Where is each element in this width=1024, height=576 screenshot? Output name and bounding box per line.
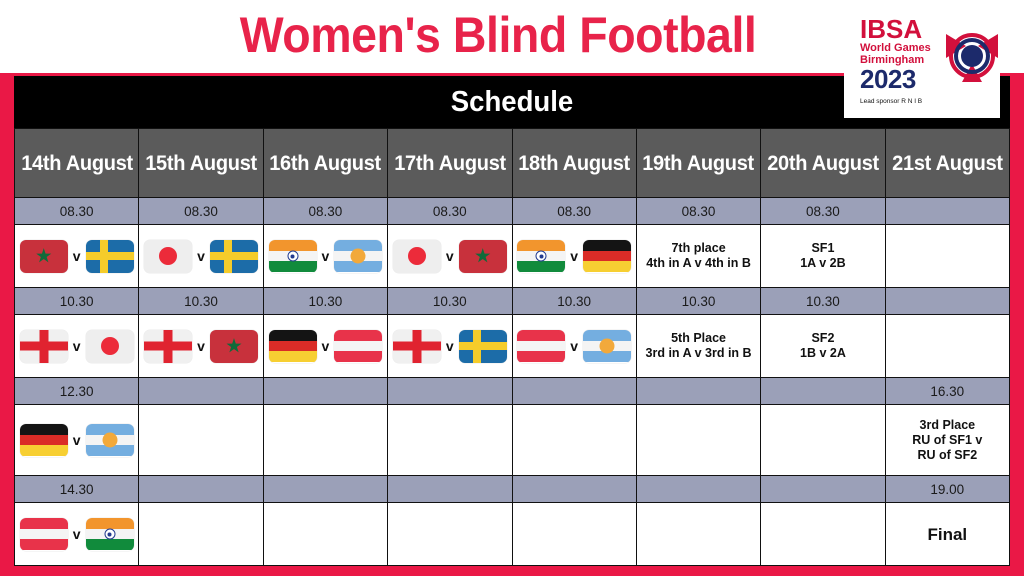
column-header-label: 17th August	[394, 151, 506, 176]
time-cell: 08.30	[388, 198, 512, 225]
column-header-label: 21st August	[892, 151, 1003, 176]
match-row: v3rd PlaceRU of SF1 vRU of SF2	[15, 405, 1010, 476]
match-cell-empty	[636, 503, 760, 566]
flag-argentina-icon	[583, 330, 631, 363]
versus-label: v	[73, 339, 81, 354]
fixture-pair: v	[15, 518, 138, 551]
time-cell-empty	[388, 476, 512, 503]
match-cell-empty	[512, 405, 636, 476]
match-text-line: Final	[888, 527, 1007, 542]
match-text-block: 7th place4th in A v 4th in B	[637, 241, 760, 271]
match-text-line: 3rd Place	[888, 418, 1007, 433]
fixture-pair: v	[264, 240, 387, 273]
time-cell-empty	[139, 476, 263, 503]
time-cell: 12.30	[15, 378, 139, 405]
time-cell-empty	[761, 378, 885, 405]
match-cell-empty	[512, 503, 636, 566]
match-row: vv★vvv5th Place3rd in A v 3rd in BSF21B …	[15, 315, 1010, 378]
versus-label: v	[570, 339, 578, 354]
match-cell-text: SF21B v 2A	[761, 315, 885, 378]
flag-india-icon	[269, 240, 317, 273]
flag-austria-icon	[517, 330, 565, 363]
match-cell-fixture: v	[15, 315, 139, 378]
time-cell: 16.30	[885, 378, 1009, 405]
match-cell-empty	[761, 405, 885, 476]
ibsa-circle-emblem-icon	[940, 22, 1000, 94]
match-row: vFinal	[15, 503, 1010, 566]
versus-label: v	[73, 527, 81, 542]
flag-sweden-icon	[459, 330, 507, 363]
time-cell: 08.30	[15, 198, 139, 225]
versus-label: v	[197, 249, 205, 264]
flag-morocco-icon: ★	[20, 240, 68, 273]
match-text-block: SF21B v 2A	[761, 331, 884, 361]
time-cell: 08.30	[512, 198, 636, 225]
time-cell: 08.30	[139, 198, 263, 225]
flag-austria-icon	[334, 330, 382, 363]
match-text-line: 3rd in A v 3rd in B	[639, 346, 758, 361]
column-header-day-3: 16th August	[263, 129, 387, 198]
fixture-pair: v	[513, 330, 636, 363]
flag-england-icon	[393, 330, 441, 363]
versus-label: v	[570, 249, 578, 264]
match-text-block: SF11A v 2B	[761, 241, 884, 271]
time-cell-empty	[885, 198, 1009, 225]
match-cell-fixture: v	[388, 315, 512, 378]
match-cell-text: 7th place4th in A v 4th in B	[636, 225, 760, 288]
match-text-line: RU of SF2	[888, 448, 1007, 463]
time-cell-empty	[512, 378, 636, 405]
ibsa-logo: IBSA World Games Birmingham 2023 Lead sp…	[844, 10, 1000, 118]
match-cell-fixture: v	[139, 225, 263, 288]
column-header-label: 15th August	[145, 151, 257, 176]
fixture-pair: ★v	[15, 240, 138, 273]
match-cell-fixture: v★	[388, 225, 512, 288]
match-cell-fixture: ★v	[15, 225, 139, 288]
versus-label: v	[73, 249, 81, 264]
match-text-line: RU of SF1 v	[888, 433, 1007, 448]
match-text-line: SF2	[763, 331, 882, 346]
fixture-pair: v★	[388, 240, 511, 273]
match-cell-fixture: v	[15, 503, 139, 566]
column-header-day-2: 15th August	[139, 129, 263, 198]
time-cell: 19.00	[885, 476, 1009, 503]
time-row: 10.3010.3010.3010.3010.3010.3010.30	[15, 288, 1010, 315]
match-cell-fixture: v	[512, 315, 636, 378]
schedule-table-wrap: 14th August15th August16th August17th Au…	[14, 128, 1010, 555]
table-header-row: 14th August15th August16th August17th Au…	[15, 129, 1010, 198]
column-header-label: 20th August	[767, 151, 879, 176]
column-header-day-8: 21st August	[885, 129, 1009, 198]
fixture-pair: v★	[139, 330, 262, 363]
fixture-pair: v	[264, 330, 387, 363]
match-cell-empty	[761, 503, 885, 566]
fixture-pair: v	[513, 240, 636, 273]
flag-germany-icon	[269, 330, 317, 363]
fixture-pair: v	[139, 240, 262, 273]
poster-root: Women's Blind Football IBSA World Games …	[0, 0, 1024, 576]
time-cell: 10.30	[512, 288, 636, 315]
flag-morocco-icon: ★	[210, 330, 258, 363]
match-text-block: 5th Place3rd in A v 3rd in B	[637, 331, 760, 361]
time-row: 12.3016.30	[15, 378, 1010, 405]
column-header-day-1: 14th August	[15, 129, 139, 198]
flag-argentina-icon	[334, 240, 382, 273]
time-row: 08.3008.3008.3008.3008.3008.3008.30	[15, 198, 1010, 225]
match-cell-empty	[388, 405, 512, 476]
time-cell: 08.30	[263, 198, 387, 225]
time-cell-empty	[139, 378, 263, 405]
time-cell-empty	[263, 378, 387, 405]
schedule-table: 14th August15th August16th August17th Au…	[14, 128, 1010, 566]
time-cell-empty	[263, 476, 387, 503]
versus-label: v	[446, 339, 454, 354]
match-text-line: 1B v 2A	[763, 346, 882, 361]
match-text-line: 1A v 2B	[763, 256, 882, 271]
flag-japan-icon	[86, 330, 134, 363]
match-text-line: 7th place	[639, 241, 758, 256]
match-cell-empty	[263, 503, 387, 566]
match-text-line: 4th in A v 4th in B	[639, 256, 758, 271]
flag-england-icon	[144, 330, 192, 363]
column-header-day-7: 20th August	[761, 129, 885, 198]
flag-morocco-icon: ★	[459, 240, 507, 273]
match-cell-text: 5th Place3rd in A v 3rd in B	[636, 315, 760, 378]
match-text-line: SF1	[763, 241, 882, 256]
match-cell-empty	[263, 405, 387, 476]
match-cell-text: 3rd PlaceRU of SF1 vRU of SF2	[885, 405, 1009, 476]
logo-sponsor-text: Lead sponsor R N I B	[860, 98, 922, 105]
match-cell-text: SF11A v 2B	[761, 225, 885, 288]
fixture-pair: v	[15, 330, 138, 363]
match-cell-fixture: v	[263, 315, 387, 378]
match-cell-fixture: v	[512, 225, 636, 288]
column-header-day-5: 18th August	[512, 129, 636, 198]
flag-india-icon	[86, 518, 134, 551]
match-text-line: 5th Place	[639, 331, 758, 346]
column-header-label: 19th August	[643, 151, 755, 176]
flag-japan-icon	[144, 240, 192, 273]
time-cell: 10.30	[263, 288, 387, 315]
match-cell-empty	[885, 315, 1009, 378]
ibsa-logo-inner: IBSA World Games Birmingham 2023 Lead sp…	[852, 16, 1000, 112]
match-cell-fixture: v★	[139, 315, 263, 378]
flag-england-icon	[20, 330, 68, 363]
time-cell-empty	[885, 288, 1009, 315]
flag-argentina-icon	[86, 424, 134, 457]
column-header-label: 18th August	[518, 151, 630, 176]
versus-label: v	[446, 249, 454, 264]
logo-year-text: 2023	[860, 66, 916, 93]
flag-austria-icon	[20, 518, 68, 551]
column-header-day-6: 19th August	[636, 129, 760, 198]
time-cell: 10.30	[139, 288, 263, 315]
match-row: ★vvvv★v7th place4th in A v 4th in BSF11A…	[15, 225, 1010, 288]
logo-worldgames-text: World Games	[860, 42, 931, 54]
flag-germany-icon	[20, 424, 68, 457]
match-text-block: 3rd PlaceRU of SF1 vRU of SF2	[886, 418, 1009, 463]
flag-sweden-icon	[86, 240, 134, 273]
time-cell-empty	[388, 378, 512, 405]
time-cell: 10.30	[388, 288, 512, 315]
versus-label: v	[322, 339, 330, 354]
time-cell-empty	[512, 476, 636, 503]
fixture-pair: v	[15, 424, 138, 457]
flag-sweden-icon	[210, 240, 258, 273]
time-cell: 10.30	[761, 288, 885, 315]
time-cell-empty	[636, 378, 760, 405]
fixture-pair: v	[388, 330, 511, 363]
time-cell: 10.30	[15, 288, 139, 315]
time-cell: 08.30	[636, 198, 760, 225]
match-cell-empty	[139, 503, 263, 566]
flag-germany-icon	[583, 240, 631, 273]
match-cell-fixture: v	[263, 225, 387, 288]
match-cell-empty	[139, 405, 263, 476]
table-head: 14th August15th August16th August17th Au…	[15, 129, 1010, 198]
time-cell-empty	[636, 476, 760, 503]
time-cell: 08.30	[761, 198, 885, 225]
match-cell-text: Final	[885, 503, 1009, 566]
versus-label: v	[322, 249, 330, 264]
flag-india-icon	[517, 240, 565, 273]
column-header-label: 14th August	[21, 151, 133, 176]
time-cell: 14.30	[15, 476, 139, 503]
time-cell-empty	[761, 476, 885, 503]
time-cell: 10.30	[636, 288, 760, 315]
time-row: 14.3019.00	[15, 476, 1010, 503]
column-header-day-4: 17th August	[388, 129, 512, 198]
match-cell-empty	[885, 225, 1009, 288]
table-body: 08.3008.3008.3008.3008.3008.3008.30★vvvv…	[15, 198, 1010, 566]
flag-japan-icon	[393, 240, 441, 273]
match-cell-empty	[388, 503, 512, 566]
logo-brand-text: IBSA	[860, 16, 922, 42]
versus-label: v	[197, 339, 205, 354]
match-cell-fixture: v	[15, 405, 139, 476]
match-text-block: Final	[886, 527, 1009, 542]
column-header-label: 16th August	[270, 151, 382, 176]
match-cell-empty	[636, 405, 760, 476]
versus-label: v	[73, 433, 81, 448]
